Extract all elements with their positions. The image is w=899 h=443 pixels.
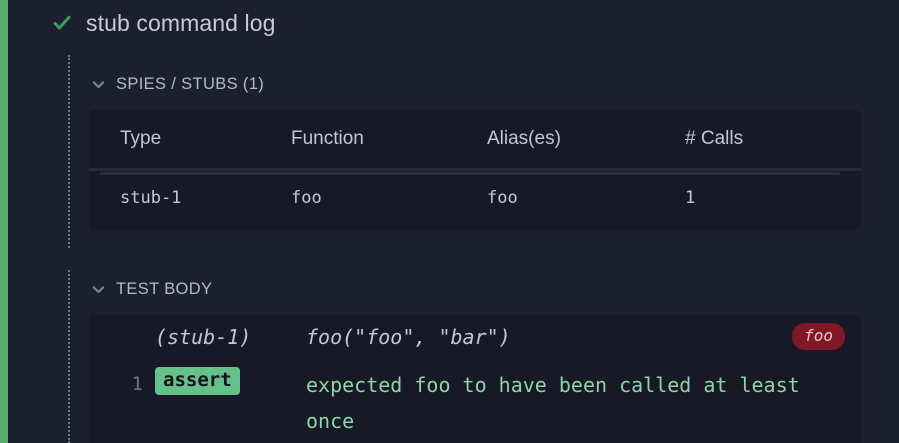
- assert-badge-wrapper: assert: [151, 367, 306, 395]
- section-header-test-body[interactable]: TEST BODY: [92, 279, 212, 299]
- command-method: (stub-1): [151, 320, 306, 354]
- cell-function: foo: [291, 170, 487, 226]
- check-icon: [52, 13, 72, 33]
- command-number: 1: [89, 367, 151, 401]
- column-header-type: Type: [89, 110, 291, 170]
- column-header-function: Function: [291, 110, 487, 170]
- assertion-message: expected foo to have been called at leas…: [306, 367, 826, 439]
- command-message: foo("foo", "bar"): [306, 320, 861, 354]
- command-log-entry-stub[interactable]: (stub-1) foo("foo", "bar") foo: [89, 320, 861, 360]
- command-log-guide-line: [68, 55, 70, 443]
- table-header-divider: [100, 172, 840, 175]
- chevron-down-icon: [92, 78, 105, 91]
- chevron-down-icon: [92, 283, 105, 296]
- cell-num-calls: 1: [685, 170, 861, 226]
- test-status-rail: [0, 0, 8, 443]
- section-label-test-body: TEST BODY: [116, 280, 212, 299]
- column-header-num-calls: # Calls: [685, 110, 861, 170]
- page-title: stub command log: [86, 10, 276, 37]
- column-header-aliases: Alias(es): [487, 110, 685, 170]
- section-label-spies-stubs: SPIES / STUBS (1): [116, 75, 264, 94]
- spies-stubs-panel: Type Function Alias(es) # Calls stub-1 f…: [89, 110, 861, 230]
- cell-type: stub-1: [89, 170, 291, 226]
- spies-stubs-table: Type Function Alias(es) # Calls stub-1 f…: [89, 110, 861, 225]
- section-header-spies-stubs[interactable]: SPIES / STUBS (1): [92, 74, 264, 94]
- command-log-entry-assert[interactable]: 1 assert expected foo to have been calle…: [89, 367, 861, 437]
- guide-line-gap: [64, 250, 74, 270]
- table-body: stub-1 foo foo 1: [89, 170, 861, 226]
- table-header-row: Type Function Alias(es) # Calls: [89, 110, 861, 170]
- alias-badge[interactable]: foo: [792, 323, 845, 350]
- test-title-row[interactable]: stub command log: [52, 6, 276, 40]
- status-badge: assert: [155, 367, 240, 395]
- table-row[interactable]: stub-1 foo foo 1: [89, 170, 861, 226]
- cell-aliases: foo: [487, 170, 685, 226]
- table-head: Type Function Alias(es) # Calls: [89, 110, 861, 170]
